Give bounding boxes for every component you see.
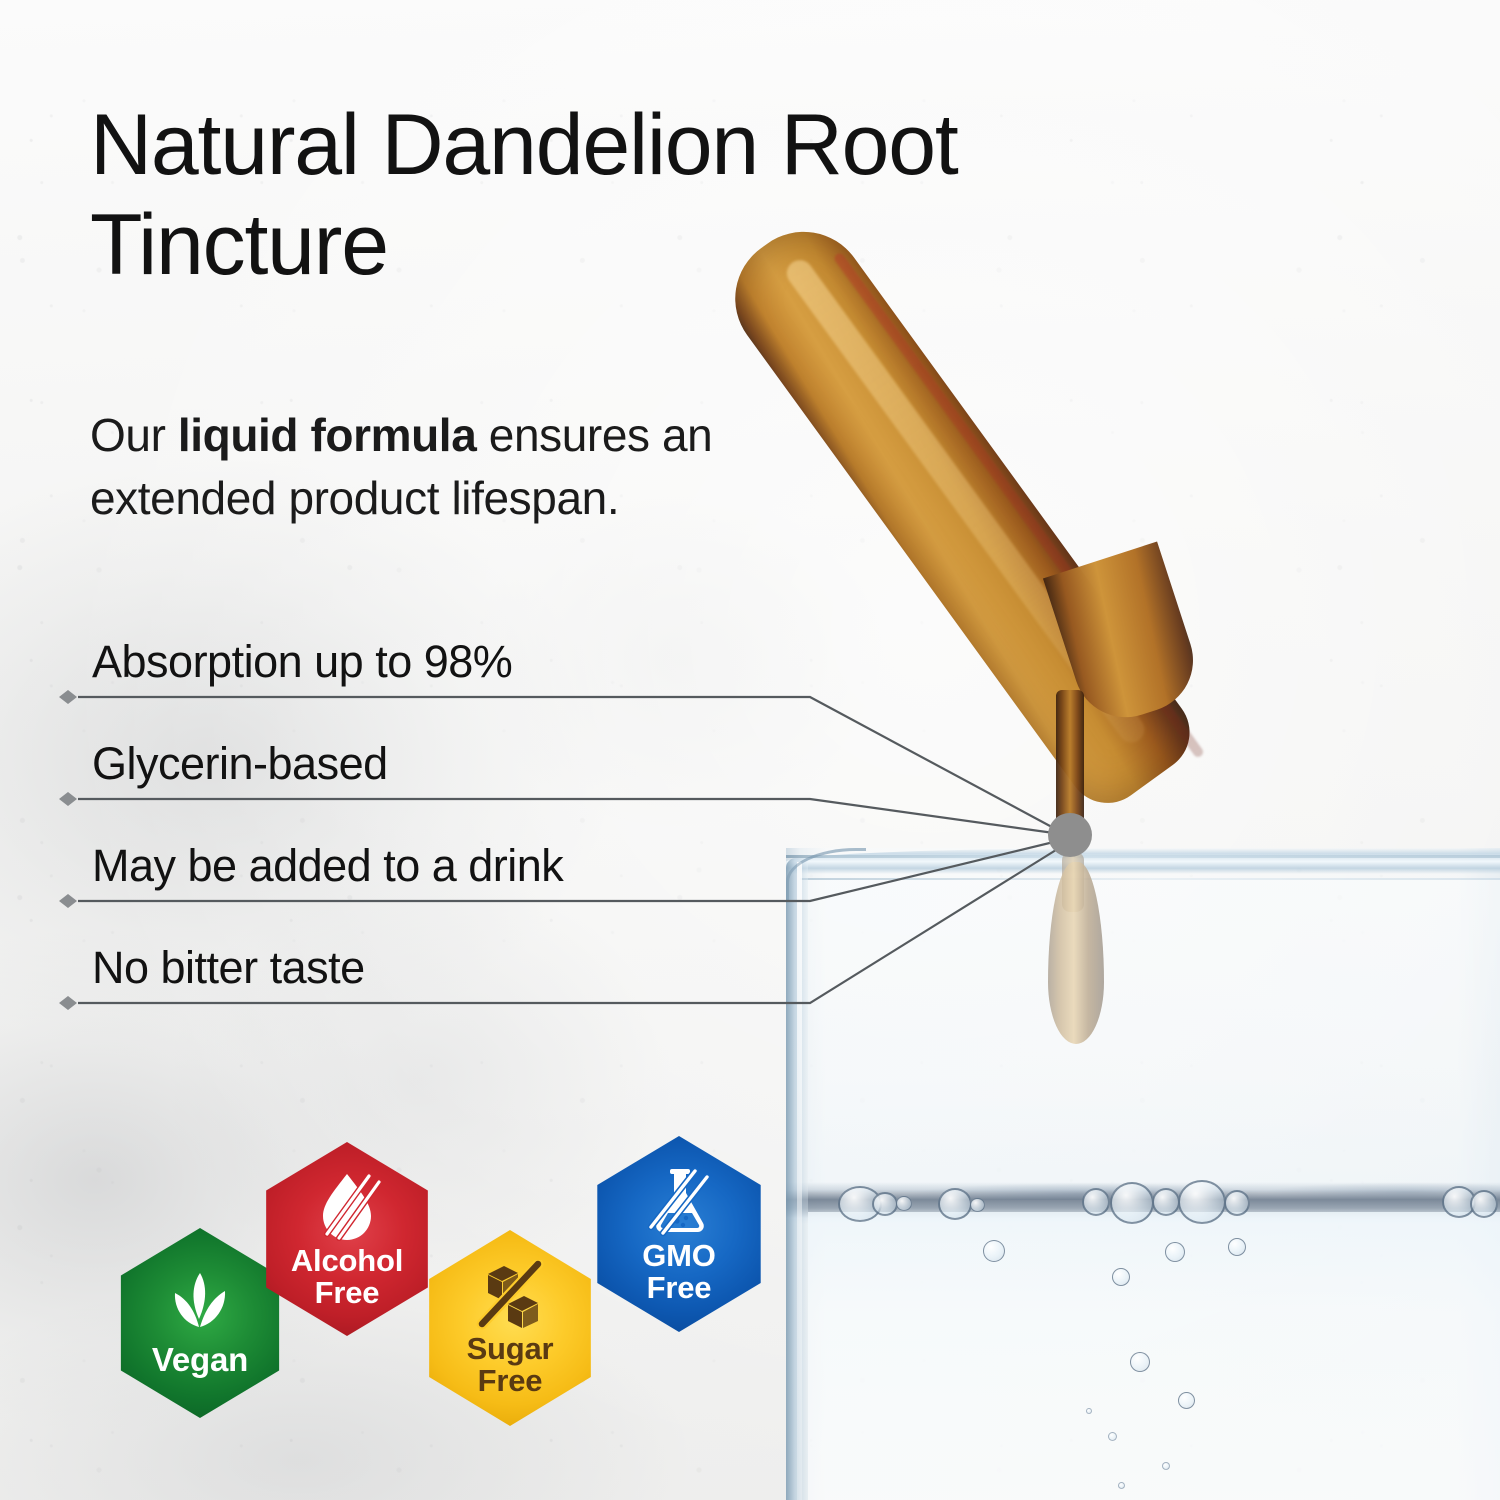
badge-label-gmo-free: GMO Free (642, 1240, 715, 1303)
badge-label-sugar-free: Sugar Free (467, 1333, 554, 1396)
badge-label-vegan: Vegan (152, 1343, 248, 1377)
sugar-cubes-slash-icon (474, 1260, 546, 1330)
certification-badges: Vegan Alcohol Free (0, 0, 1500, 1500)
infographic-canvas: Natural Dandelion Root Tincture Our liqu… (0, 0, 1500, 1500)
badge-label-alcohol-free: Alcohol Free (291, 1245, 403, 1308)
badge-sugar-free: Sugar Free (416, 1230, 604, 1426)
badge-vegan: Vegan (108, 1228, 292, 1418)
badge-gmo-free: GMO Free (584, 1136, 774, 1332)
droplet-slash-icon (311, 1170, 383, 1242)
flask-slash-icon (643, 1165, 715, 1237)
leaf-icon (162, 1269, 238, 1339)
badge-alcohol-free: Alcohol Free (253, 1142, 441, 1336)
